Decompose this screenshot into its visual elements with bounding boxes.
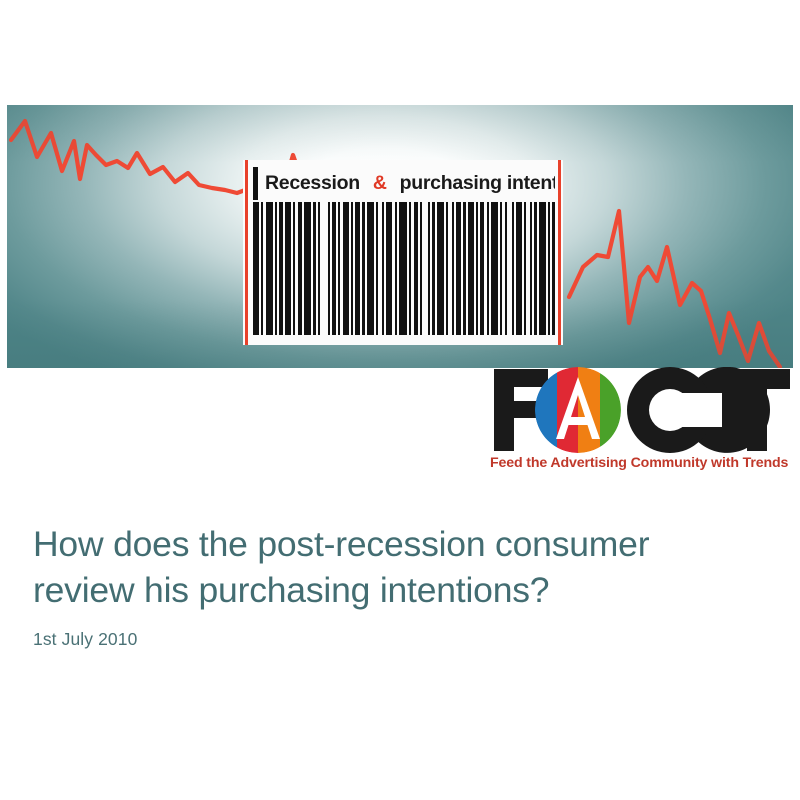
barcode-caption: Recession & purchasing intention — [253, 167, 555, 200]
barcode-bar — [539, 202, 546, 335]
barcode-caption-suffix: purchasing intention — [393, 174, 555, 194]
barcode-bar — [491, 202, 498, 335]
page-date: 1st July 2010 — [33, 629, 137, 650]
barcode-bar — [367, 202, 374, 335]
fact-wordmark-svg — [488, 367, 794, 453]
wheel-segment-orange-bottom — [578, 410, 600, 453]
barcode-graphic: Recession & purchasing intention — [243, 160, 563, 345]
wheel-segment-red-bottom — [557, 410, 578, 453]
fact-logo: Feed the Advertising Community with Tren… — [488, 367, 794, 479]
hero-banner: Recession & purchasing intention — [7, 105, 793, 368]
barcode-bar — [437, 202, 444, 335]
fact-logo-mark — [488, 367, 794, 453]
barcode-bar — [552, 202, 555, 335]
barcode-caption-prefix: Recession — [258, 174, 366, 194]
fact-logo-tagline: Feed the Advertising Community with Tren… — [490, 455, 794, 471]
barcode-bar — [399, 202, 407, 335]
barcode-rail-right — [558, 160, 561, 345]
barcode-bars — [253, 202, 555, 335]
wheel-segment-orange-top — [578, 367, 600, 410]
wheel-segment-red-top — [557, 367, 578, 410]
page-title: How does the post-recession consumer rev… — [33, 521, 763, 613]
barcode-rail-left — [245, 160, 248, 345]
trend-line-right — [569, 211, 780, 367]
barcode-caption-ampersand: & — [366, 174, 393, 194]
wheel-segment-green — [600, 367, 622, 453]
logo-color-wheel — [535, 367, 622, 453]
barcode-space — [320, 202, 328, 335]
barcode-bar — [304, 202, 311, 335]
logo-letter-c-mouth — [670, 393, 722, 427]
barcode-bar — [266, 202, 273, 335]
